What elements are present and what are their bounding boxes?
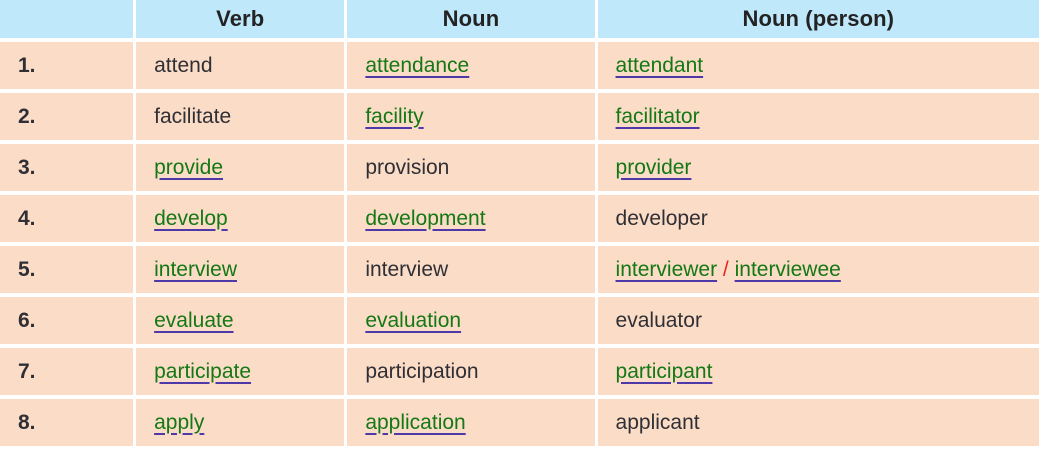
cell-verb: attend [136,42,344,89]
plain-word: interview [365,258,448,281]
table-row: 3.provideprovisionprovider [0,144,1039,191]
highlighted-word: development [365,207,485,230]
table-row: 8.applyapplicationapplicant [0,399,1039,446]
cell-noun: attendance [347,42,594,89]
highlighted-word: facility [365,105,423,128]
cell-noun-person: developer [598,195,1039,242]
highlighted-word: attendance [365,54,469,77]
cell-verb: provide [136,144,344,191]
cell-verb: develop [136,195,344,242]
highlighted-word: provider [616,156,692,179]
cell-verb: evaluate [136,297,344,344]
highlighted-word: interview [154,258,237,281]
highlighted-word: application [365,411,465,434]
column-header-number [0,0,133,38]
table-row: 7.participateparticipationparticipant [0,348,1039,395]
table-row: 4.developdevelopmentdeveloper [0,195,1039,242]
table-body: 1.attendattendanceattendant2.facilitatef… [0,42,1039,446]
cell-noun-person: applicant [598,399,1039,446]
highlighted-word: facilitator [616,105,700,128]
header-row: Verb Noun Noun (person) [0,0,1039,38]
plain-word: evaluator [616,309,702,332]
row-number: 8. [0,399,133,446]
highlighted-word: participant [616,360,713,383]
cell-verb: participate [136,348,344,395]
highlighted-word: participate [154,360,251,383]
row-number: 7. [0,348,133,395]
row-number: 2. [0,93,133,140]
highlighted-word: develop [154,207,228,230]
row-number: 5. [0,246,133,293]
cell-verb: facilitate [136,93,344,140]
column-header-verb: Verb [136,0,344,38]
highlighted-word: attendant [616,54,704,77]
plain-word: developer [616,207,708,230]
table-row: 5.interviewinterviewinterviewer / interv… [0,246,1039,293]
table-header: Verb Noun Noun (person) [0,0,1039,38]
table-row: 1.attendattendanceattendant [0,42,1039,89]
table-row: 2.facilitatefacilityfacilitator [0,93,1039,140]
plain-word: facilitate [154,105,231,128]
cell-noun: facility [347,93,594,140]
cell-noun: interview [347,246,594,293]
cell-noun: application [347,399,594,446]
cell-noun: development [347,195,594,242]
highlighted-word: evaluation [365,309,461,332]
row-number: 1. [0,42,133,89]
plain-word: applicant [616,411,700,434]
word-separator: / [717,258,735,281]
plain-word: participation [365,360,478,383]
cell-noun-person: facilitator [598,93,1039,140]
highlighted-word: evaluate [154,309,233,332]
cell-noun: evaluation [347,297,594,344]
column-header-noun-person: Noun (person) [598,0,1039,38]
cell-noun-person: participant [598,348,1039,395]
cell-noun-person: attendant [598,42,1039,89]
cell-noun-person: provider [598,144,1039,191]
highlighted-word: apply [154,411,204,434]
table-row: 6.evaluateevaluationevaluator [0,297,1039,344]
cell-noun-person: interviewer / interviewee [598,246,1039,293]
row-number: 3. [0,144,133,191]
word-forms-table: Verb Noun Noun (person) 1.attendattendan… [0,0,1042,450]
row-number: 6. [0,297,133,344]
plain-word: provision [365,156,449,179]
cell-verb: apply [136,399,344,446]
cell-noun: participation [347,348,594,395]
cell-noun: provision [347,144,594,191]
plain-word: attend [154,54,212,77]
cell-noun-person: evaluator [598,297,1039,344]
highlighted-word: interviewee [735,258,841,281]
highlighted-word: provide [154,156,223,179]
highlighted-word: interviewer [616,258,718,281]
column-header-noun: Noun [347,0,594,38]
cell-verb: interview [136,246,344,293]
row-number: 4. [0,195,133,242]
